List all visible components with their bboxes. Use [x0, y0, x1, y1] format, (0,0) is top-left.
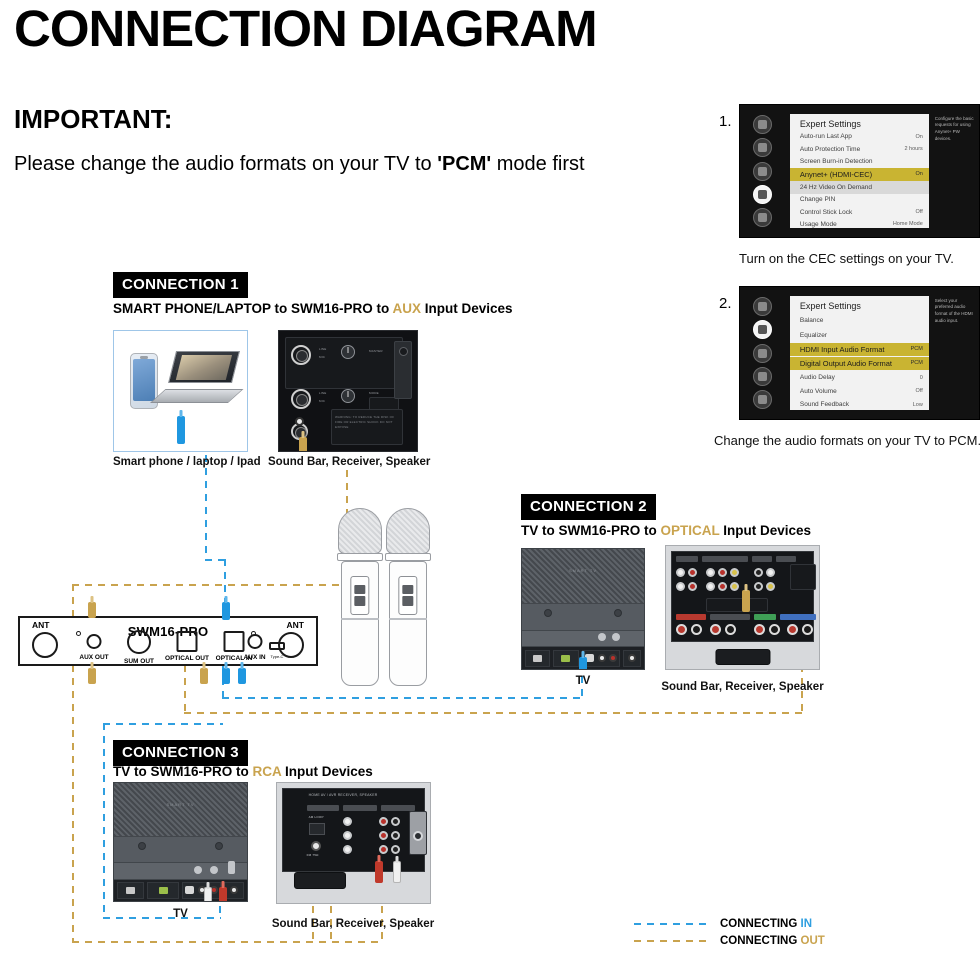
menu-row[interactable]: Sound Feedback Low — [790, 398, 929, 411]
microphone-1-display — [350, 576, 369, 615]
aux-in-stub-top — [222, 602, 230, 620]
connection-1-right-caption: Sound Bar, Receiver, Speaker — [268, 456, 428, 468]
broadcast-icon — [753, 344, 772, 363]
receiver-c3-rca-row-3 — [343, 845, 352, 854]
tv-port-group-usb — [117, 882, 144, 899]
connection-1-tag: CONNECTION 1 — [113, 272, 248, 298]
general-wrench-icon — [753, 367, 772, 386]
receiver-rca-row-3 — [706, 568, 739, 577]
legend-item-connecting-out: CONNECTING OUT — [634, 932, 825, 949]
route-optical-out-horizontal — [184, 712, 802, 714]
menu-row-label: Usage Mode — [800, 221, 837, 228]
connection-2-receiver-panel — [665, 545, 820, 670]
sound-icon — [753, 320, 772, 339]
connection-1-source-frame — [113, 330, 248, 452]
aux-plug-blue-c1 — [177, 416, 185, 444]
step-1-menu-title: Expert Settings — [800, 119, 861, 129]
menu-row-label: HDMI Input Audio Format — [800, 345, 885, 354]
microphone-2-display — [398, 576, 417, 615]
receiver-c3-input-row-1 — [379, 817, 400, 826]
route-c3-top-horizontal — [103, 723, 223, 725]
route-c3-out-bottom-horizontal — [72, 941, 382, 943]
important-note-suffix: mode first — [491, 153, 584, 175]
receiver-digital-row — [754, 568, 775, 577]
port-optical-out-label: OPTICAL OUT — [165, 655, 209, 662]
tv-port-group-antenna-c3 — [224, 882, 244, 899]
receiver-rca-row-2 — [676, 582, 697, 591]
connection-3-left-caption: TV — [113, 908, 248, 920]
antenna-left-label: ANT — [32, 620, 49, 630]
menu-row-label: Audio Delay — [800, 374, 835, 381]
receiver-base-foot — [715, 649, 770, 665]
connection-2-subtitle: TV to SWM16-PRO to OPTICAL Input Devices — [521, 523, 811, 538]
antenna-right-label: ANT — [287, 620, 304, 630]
microphone-1 — [338, 508, 382, 686]
connection-3-tv-panel: SMART TV — [113, 782, 248, 902]
menu-row-value: PCM — [911, 346, 923, 352]
connection-3-receiver-panel: HOME AV / AVR RECEIVER, SPEAKER AM LOOP … — [276, 782, 431, 904]
gain-knob-2[interactable] — [341, 389, 355, 403]
menu-row[interactable]: Balance — [790, 314, 929, 327]
menu-row-digital-output-audio-format[interactable]: Digital Output Audio Format PCM — [790, 357, 929, 370]
aux-out-stub-bottom — [88, 668, 96, 684]
step-1-icon-rail — [747, 113, 785, 229]
sound-icon — [753, 138, 772, 157]
route-optical-in-horizontal — [222, 697, 582, 699]
swm16-pro-device: SWM16-PRO ANT ANT AUX OUT SUM OUT OPTICA… — [18, 616, 318, 666]
legend-item-connecting-in: CONNECTING IN — [634, 915, 825, 932]
connection-3-subtitle-suffix: Input Devices — [281, 764, 373, 779]
support-icon — [753, 390, 772, 409]
menu-row[interactable]: Equalizer — [790, 329, 929, 342]
connection-2-tag: CONNECTION 2 — [521, 494, 656, 520]
tv-port-group-audio-out-c3 — [182, 882, 221, 899]
menu-row-label: Sound Feedback — [800, 401, 849, 408]
menu-row[interactable]: Auto Volume Off — [790, 385, 929, 398]
tv-port-group-av-in — [525, 650, 550, 667]
step-2-menu-panel: Expert Settings Balance Equalizer HDMI I… — [790, 296, 929, 410]
rca-plug-red-c3 — [219, 887, 227, 902]
menu-row-value: Off — [916, 388, 923, 394]
receiver-rca-row-4 — [706, 582, 739, 591]
connection-1-subtitle-prefix: SMART PHONE/LAPTOP to SWM16-PRO to — [113, 301, 393, 316]
connection-2-right-caption: Sound Bar, Receiver, Speaker — [660, 681, 825, 693]
menu-row-hdmi-input-audio-format[interactable]: HDMI Input Audio Format PCM — [790, 343, 929, 356]
speaker-terminals-center — [710, 624, 736, 635]
step-2-tv-screenshot: Expert Settings Balance Equalizer HDMI I… — [739, 286, 980, 420]
legend-label-in: CONNECTING IN — [720, 918, 812, 930]
receiver-digital-row-2 — [754, 582, 775, 591]
speaker-terminals-rear — [787, 624, 813, 635]
antenna-connector-left[interactable] — [32, 632, 58, 658]
step-1-caption: Turn on the CEC settings on your TV. — [739, 251, 954, 266]
important-label: IMPORTANT: — [14, 104, 172, 135]
speaker-terminals-surround — [754, 624, 780, 635]
optical-out-plug-tan-c2 — [742, 590, 750, 612]
step-2-caption: Change the audio formats on your TV to P… — [714, 433, 980, 448]
connection-3-subtitle-highlight: RCA — [253, 764, 282, 779]
gain-knob-1[interactable] — [341, 345, 355, 359]
general-wrench-icon — [753, 185, 772, 204]
menu-row-value: Home Mode — [893, 221, 923, 227]
menu-row-label: Auto Protection Time — [800, 146, 860, 153]
tv-port-group-audio-out — [582, 650, 620, 667]
step-2-menu-title: Expert Settings — [800, 301, 861, 311]
menu-row[interactable]: Auto-run Last App On — [790, 130, 929, 143]
menu-row[interactable]: Screen Burn-in Detection — [790, 155, 929, 168]
optical-in-stub — [238, 668, 246, 684]
receiver-aux-block — [706, 598, 768, 612]
important-note-highlight: 'PCM' — [437, 153, 491, 175]
connection-1-subtitle-highlight: AUX — [393, 301, 422, 316]
connection-diagram-page: CONNECTION DIAGRAM IMPORTANT: Please cha… — [0, 0, 980, 954]
menu-row-value: 0 — [920, 375, 923, 381]
optical-out-stub — [200, 668, 208, 684]
receiver-c3-base-foot — [294, 872, 346, 889]
menu-row-label: Digital Output Audio Format — [800, 359, 892, 368]
xlr-jack-1 — [291, 345, 311, 365]
route-aux-in-vertical-c1 — [205, 455, 207, 560]
menu-row-label: Equalizer — [800, 332, 827, 339]
receiver-c3-input-row-3 — [379, 845, 400, 854]
receiver-rca-row-1 — [676, 568, 697, 577]
menu-row[interactable]: 24 Hz Video On Demand — [790, 181, 929, 194]
xlr-jack-2 — [291, 389, 311, 409]
receiver-hdmi-block — [790, 564, 816, 590]
step-1-menu-panel: Expert Settings Auto-run Last App On Aut… — [790, 114, 929, 228]
menu-row-value: PCM — [911, 360, 923, 366]
connection-2-tv-panel: SMART TV — [521, 548, 645, 670]
connection-2-subtitle-suffix: Input Devices — [720, 523, 812, 538]
legend: CONNECTING IN CONNECTING OUT — [634, 915, 825, 949]
connection-2-subtitle-highlight: OPTICAL — [661, 523, 720, 538]
fm-antenna-jack — [311, 841, 321, 851]
legend-line-out — [634, 940, 712, 942]
important-note: Please change the audio formats on your … — [14, 153, 585, 176]
route-aux-out-down-c1 — [72, 584, 74, 616]
connection-3-subtitle: TV to SWM16-PRO to RCA Input Devices — [113, 764, 373, 779]
port-aux-in-label: AUX IN — [244, 654, 266, 661]
menu-row-label: 24 Hz Video On Demand — [800, 184, 872, 191]
status-led-left — [76, 631, 81, 636]
legend-line-in — [634, 923, 712, 925]
menu-row-label: Balance — [800, 317, 824, 324]
connection-3-right-caption: Sound Bar, Receiver, Speaker — [268, 918, 438, 930]
amp-screw — [399, 347, 408, 356]
route-aux-out-top-c1 — [72, 584, 347, 586]
aux-out-plug-tan-c1 — [299, 437, 307, 452]
receiver-c3-input-row-2 — [379, 831, 400, 840]
step-2-number: 2. — [719, 295, 732, 312]
optical-plug-blue-c2 — [579, 657, 587, 670]
support-icon — [753, 208, 772, 227]
menu-row[interactable]: Change PIN — [790, 193, 929, 206]
menu-row-label: Auto Volume — [800, 388, 837, 395]
menu-row[interactable]: Auto Protection Time 2 hours — [790, 143, 929, 156]
tv-port-group-hdmi — [553, 650, 580, 667]
step-1-side-help: Configure the basic requests for using A… — [935, 116, 976, 143]
tv-port-group-antenna — [623, 650, 641, 667]
menu-row-label: Change PIN — [800, 196, 835, 203]
rca-in-plug-white-c3 — [393, 861, 401, 883]
port-aux-out-label: AUX OUT — [79, 654, 108, 661]
route-optical-out-down — [184, 665, 186, 713]
connection-3-tag: CONNECTION 3 — [113, 740, 248, 766]
step-1-number: 1. — [719, 113, 732, 130]
connection-2-left-caption: TV — [521, 675, 645, 687]
aux-out-stub-top — [88, 602, 96, 618]
receiver-black-face-c3: HOME AV / AVR RECEIVER, SPEAKER AM LOOP … — [282, 788, 426, 872]
menu-row-label: Auto-run Last App — [800, 133, 852, 140]
port-sum-out-label: SUM OUT — [124, 658, 154, 665]
connection-1-subtitle: SMART PHONE/LAPTOP to SWM16-PRO to AUX I… — [113, 301, 513, 316]
menu-row-value: Low — [913, 402, 923, 408]
menu-row-value: Off — [916, 209, 923, 215]
menu-row-label: Control Stick Lock — [800, 209, 852, 216]
menu-row-label: Screen Burn-in Detection — [800, 158, 873, 165]
antenna-terminal-block — [309, 823, 325, 835]
connection-1-subtitle-suffix: Input Devices — [421, 301, 513, 316]
menu-row-value: On — [915, 171, 922, 177]
route-c3-out-left-vertical — [72, 665, 74, 942]
trs-output-jack — [295, 417, 304, 426]
aux-in-stub-bottom — [222, 668, 230, 684]
picture-icon — [753, 297, 772, 316]
connection-2-subtitle-prefix: TV to SWM16-PRO to — [521, 523, 661, 538]
route-c3-left-vertical — [103, 723, 105, 918]
laptop-illustration — [158, 351, 236, 403]
receiver-c3-rca-row-2 — [343, 831, 352, 840]
route-aux-in-horizontal-c1 — [205, 559, 225, 561]
rca-plug-white-c3 — [204, 887, 212, 902]
speaker-terminals-front — [676, 624, 702, 635]
step-2-side-help: Select your preferred audio format of th… — [935, 298, 976, 325]
broadcast-icon — [753, 162, 772, 181]
menu-row[interactable]: Audio Delay 0 — [790, 371, 929, 384]
rca-in-plug-red-c3 — [375, 861, 383, 883]
menu-row-anynet-cec[interactable]: Anynet+ (HDMI-CEC) On — [790, 168, 929, 181]
important-note-prefix: Please change the audio formats on your … — [14, 153, 437, 175]
menu-row-value: On — [915, 134, 922, 140]
step-2-icon-rail — [747, 295, 785, 411]
page-title: CONNECTION DIAGRAM — [14, 2, 597, 56]
step-1-tv-screenshot: Expert Settings Auto-run Last App On Aut… — [739, 104, 980, 238]
menu-row-label: Anynet+ (HDMI-CEC) — [800, 170, 872, 179]
port-type-c-label: Type-C — [271, 654, 284, 659]
receiver-c3-headphone-jack — [413, 831, 423, 841]
microphone-2 — [386, 508, 430, 686]
legend-label-out: CONNECTING OUT — [720, 935, 825, 947]
picture-icon — [753, 115, 772, 134]
connection-1-amp-panel: LINE MIC LINE MIC MASTER MODE WARNING: T… — [278, 330, 418, 452]
connection-1-left-caption: Smart phone / laptop / Ipad — [113, 456, 248, 468]
receiver-c3-rca-row-1 — [343, 817, 352, 826]
menu-row-value: 2 hours — [904, 146, 922, 152]
tv-port-group-hdmi-c3 — [147, 882, 179, 899]
connection-3-subtitle-prefix: TV to SWM16-PRO to — [113, 764, 253, 779]
menu-row[interactable]: Usage Mode Home Mode — [790, 218, 929, 231]
tv-port-strip-c3 — [114, 880, 247, 901]
